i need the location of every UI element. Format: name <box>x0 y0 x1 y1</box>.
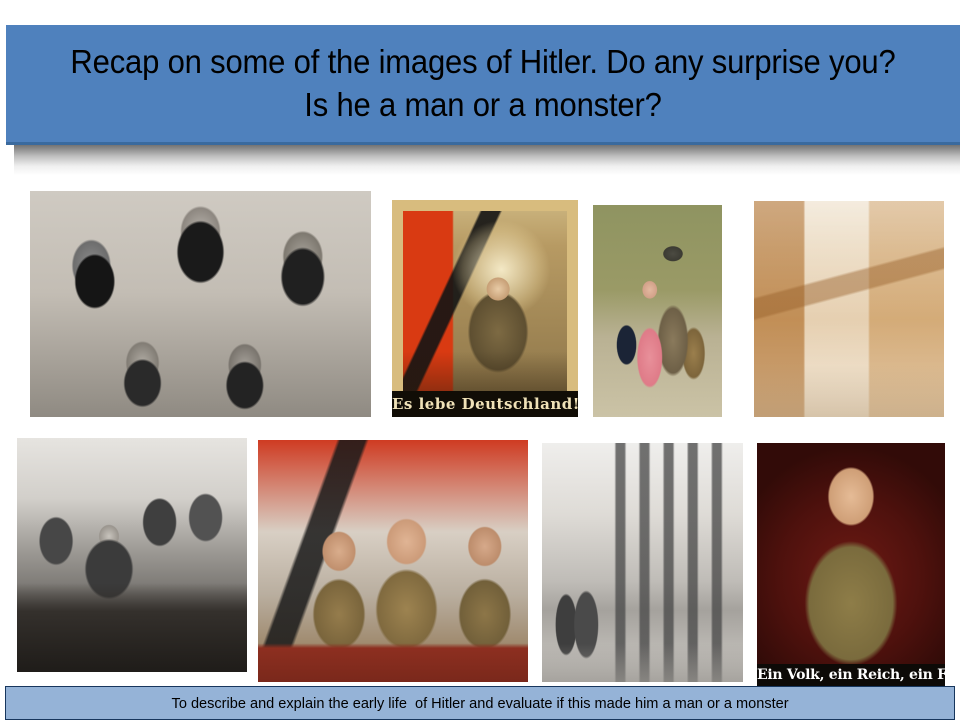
poster-caption-es-lebe-deutschland: Es lebe Deutschland! <box>392 391 578 417</box>
hitler-with-children-art <box>593 205 722 417</box>
title-banner: Recap on some of the images of Hitler. D… <box>6 25 960 145</box>
es-lebe-deutschland-poster-art <box>392 200 578 417</box>
image-troop-inspection-photo <box>542 443 743 682</box>
slide-title: Recap on some of the images of Hitler. D… <box>35 41 932 125</box>
troop-inspection-art <box>542 443 743 682</box>
ein-volk-poster-art <box>757 443 945 686</box>
image-school-class-photo <box>30 191 371 417</box>
image-rally-with-sa-officers-photo <box>258 440 528 682</box>
school-class-photo-art <box>30 191 371 417</box>
image-hitler-with-children-photo <box>593 205 722 417</box>
objective-text: To describe and explain the early life o… <box>171 695 788 712</box>
title-banner-shadow <box>14 145 960 175</box>
objective-bar: To describe and explain the early life o… <box>5 686 955 720</box>
image-ein-volk-poster: Ein Volk, ein Reich, ein Führer! <box>757 443 945 686</box>
rally-with-sa-officers-art <box>258 440 528 682</box>
image-hitler-watercolour-painting <box>754 201 944 417</box>
groundbreaking-ceremony-art <box>17 438 247 672</box>
hitler-watercolour-art <box>754 201 944 417</box>
poster-caption-ein-volk: Ein Volk, ein Reich, ein Führer! <box>757 664 945 686</box>
image-es-lebe-deutschland-poster: Es lebe Deutschland! <box>392 200 578 417</box>
image-groundbreaking-ceremony-photo <box>17 438 247 672</box>
